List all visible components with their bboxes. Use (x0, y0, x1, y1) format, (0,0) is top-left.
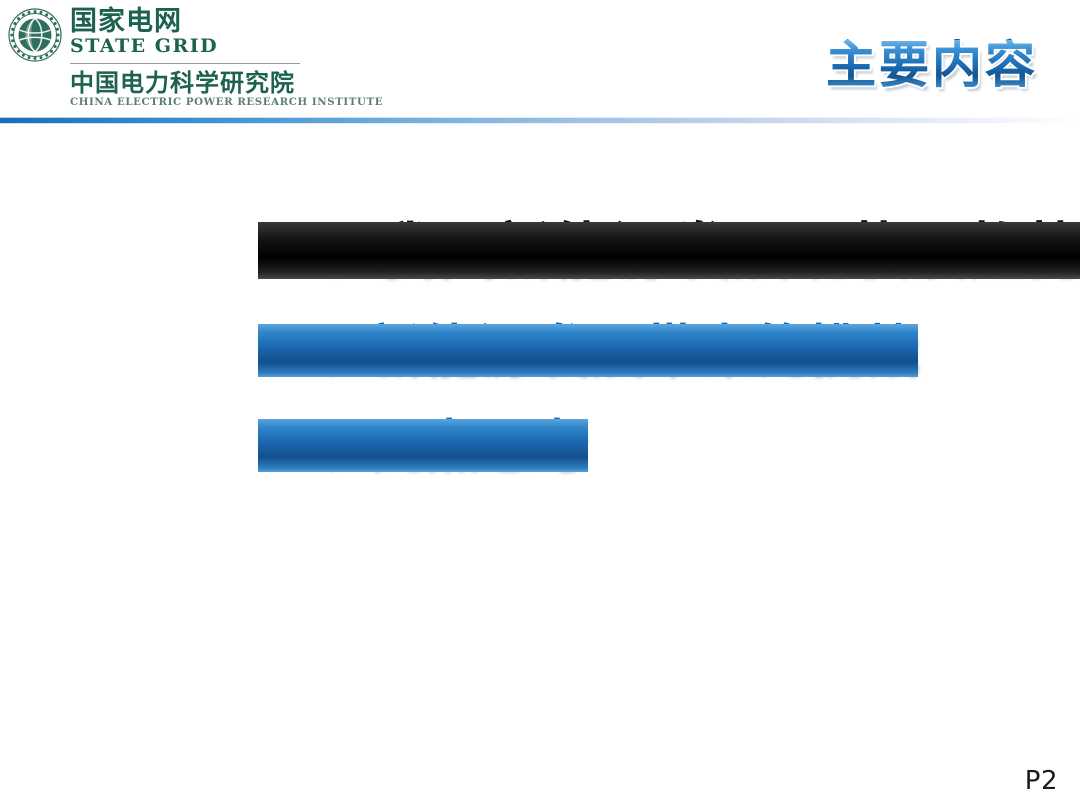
page-title: 主要内容 主要内容 主要内容 (826, 40, 1038, 90)
toc-item-1-label: 一、我国新能源发展现状及趋势 (258, 222, 1080, 279)
page-title-fill: 主要内容 (826, 40, 1038, 90)
toc-item-2[interactable]: 二、新能源发展带来的挑战 二、新能源发展带来的挑战 二、新能源发展带来的挑战 (258, 324, 918, 377)
toc-item-3[interactable]: 三、几点思考 三、几点思考 三、几点思考 (258, 419, 588, 472)
logo-text-block: 国家电网 STATE GRID 中国电力科学研究院 CHINA ELECTRIC… (70, 6, 377, 109)
institute-name-en: CHINA ELECTRIC POWER RESEARCH INSTITUTE (70, 97, 383, 109)
slide-root: 国家电网 STATE GRID 中国电力科学研究院 CHINA ELECTRIC… (0, 0, 1080, 810)
brand-name-cn: 国家电网 (70, 8, 377, 36)
toc-item-3-label: 三、几点思考 (258, 419, 588, 472)
organization-logo-block: 国家电网 STATE GRID 中国电力科学研究院 CHINA ELECTRIC… (8, 6, 377, 109)
brand-name-en: STATE GRID (70, 36, 377, 58)
institute-name-cn: 中国电力科学研究院 (70, 70, 377, 96)
slide-content: 一、我国新能源发展现状及趋势 一、我国新能源发展现状及趋势 一、我国新能源发展现… (0, 132, 1080, 752)
state-grid-globe-emblem-icon (8, 8, 62, 62)
page-number: P2 (1025, 766, 1058, 796)
logo-divider (70, 63, 300, 64)
toc-item-1[interactable]: 一、我国新能源发展现状及趋势 一、我国新能源发展现状及趋势 一、我国新能源发展现… (258, 222, 1080, 279)
header-rule-lowlight (0, 123, 1080, 124)
slide-header: 国家电网 STATE GRID 中国电力科学研究院 CHINA ELECTRIC… (0, 0, 1080, 132)
toc-item-2-label: 二、新能源发展带来的挑战 (258, 324, 918, 377)
